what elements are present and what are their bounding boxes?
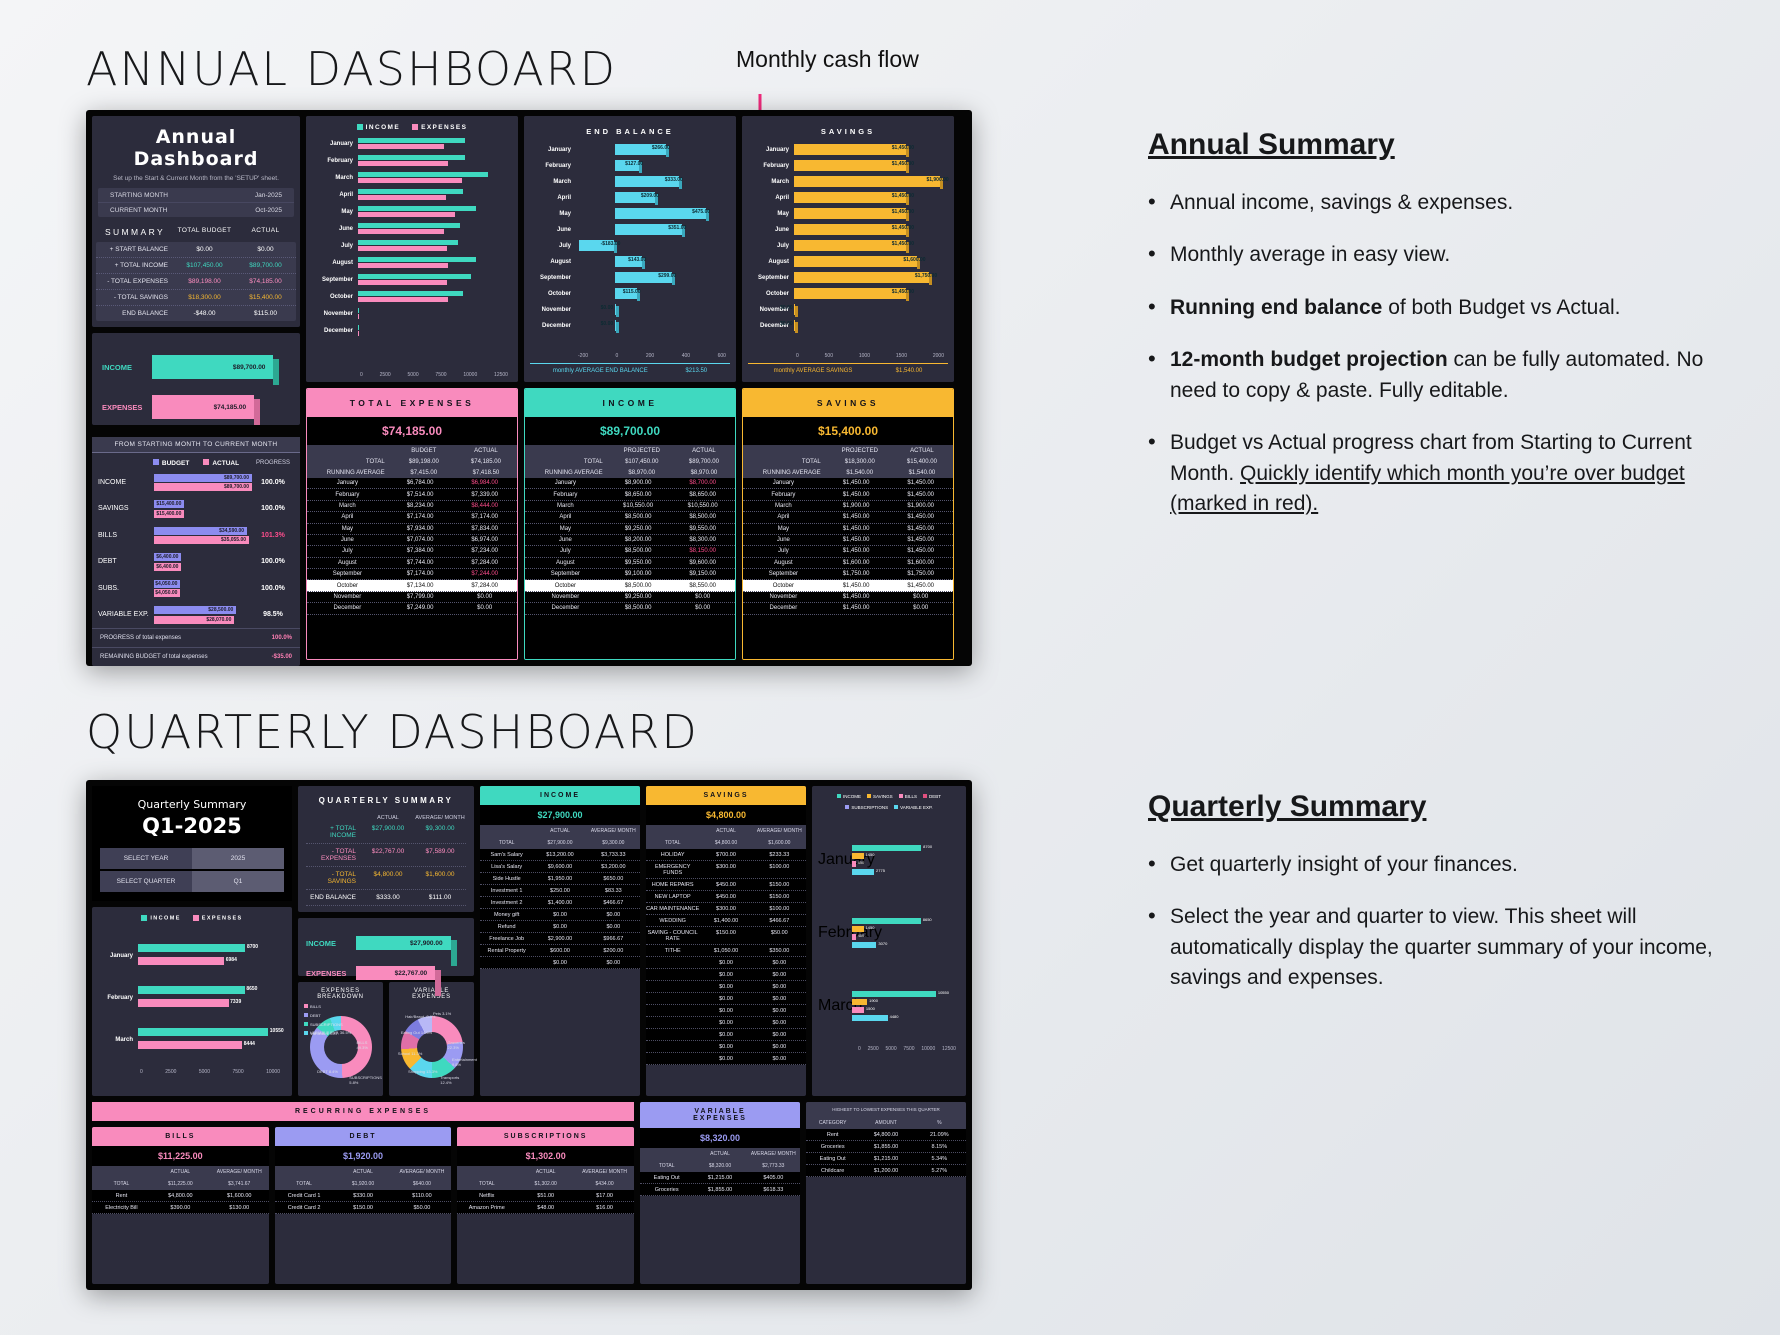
value-bar-label: $127.00 <box>625 161 643 167</box>
ie-bar: $74,185.00 <box>152 395 254 419</box>
ie-bar-row: INCOME $89,700.00 <box>102 355 290 379</box>
quarterly-bullet-list: Get quarterly insight of your finances.S… <box>1148 850 1728 994</box>
row-label: RUNNING AVERAGE <box>307 470 393 476</box>
table-row: May$9,250.00$9,550.00 <box>525 524 735 535</box>
donut-label: BILLS 49.3% <box>357 1040 377 1050</box>
variable-title: VARIABLE EXPENSES <box>395 988 468 1004</box>
expenses-bar <box>358 246 447 251</box>
chart-row: May $475.00 <box>530 206 730 222</box>
axis-tick: 12500 <box>494 372 508 378</box>
q-savings-body: HOLIDAY$700.00$233.33EMERGENCY FUNDS$300… <box>646 849 806 1065</box>
value-bar-label: $0.00 <box>780 305 793 311</box>
series-bar-value: 1450 <box>864 852 875 857</box>
table-row: Investment 2$1,400.00$466.67 <box>480 897 640 909</box>
chart-row-label: February <box>530 163 576 169</box>
table-row: January$1,450.00$1,450.00 <box>743 478 953 489</box>
series-bar: 1900 <box>852 999 867 1005</box>
expenses-bar <box>358 178 462 183</box>
table-row: HOME REPAIRS$450.00$150.00 <box>646 879 806 891</box>
axis-tick: 2500 <box>165 1069 176 1075</box>
value-bar <box>794 192 906 203</box>
bva-footer-value: -$35.00 <box>272 654 292 660</box>
series-bar: 2775 <box>852 869 874 875</box>
expenses-bar <box>358 331 359 336</box>
q-income-body: Sam's Salary$13,200.00$3,733.33Lisa's Sa… <box>480 849 640 969</box>
quarterly-bottom-row: RECURRING EXPENSES BILLS $11,225.00 ACTU… <box>92 1102 966 1284</box>
highest-header: HIGHEST TO LOWEST EXPENSES THIS QUARTER <box>806 1102 966 1117</box>
summary-title: SUMMARY <box>96 227 174 237</box>
chart-row: June $351.00 <box>530 222 730 238</box>
row-month: August <box>743 560 824 566</box>
value-bar-label: $209.00 <box>641 193 659 199</box>
table-row: Childcare$1,200.005.27% <box>806 1165 966 1177</box>
savings-footer: monthly AVERAGE SAVINGS $1,540.00 <box>748 363 948 378</box>
axis-tick: 400 <box>682 353 690 359</box>
chart-row: May $1,450.00 <box>748 206 948 222</box>
bullet-item: Running end balance of both Budget vs Ac… <box>1148 293 1728 323</box>
variable-donut: Groceries 22.3%Eating Out 14.5%Shopping … <box>395 1004 468 1090</box>
donut-label: Pets 3.1% <box>433 1011 451 1016</box>
table-row: November$9,250.00$0.00 <box>525 592 735 603</box>
summary-col-actual: ACTUAL <box>235 227 296 237</box>
row-month: June <box>525 537 606 543</box>
chart-group: January 8700 1450 450 2775 <box>818 824 960 897</box>
chart-row: October <box>312 288 512 305</box>
chart-row: September <box>312 271 512 288</box>
row-month: November <box>743 594 824 600</box>
bva-row: VARIABLE EXP. $28,500.00 $28,070.00 98.5… <box>92 602 300 629</box>
chart-row-label: January <box>748 147 794 153</box>
annual-header-panel: Annual Dashboard Set up the Start & Curr… <box>92 116 300 327</box>
savings-table: SAVINGS $15,400.00 PROJECTEDACTUAL TOTAL… <box>742 388 954 660</box>
table-row: August$1,600.00$1,600.00 <box>743 558 953 569</box>
col-projected: PROJECTED <box>611 448 673 454</box>
series-bar-value: 450 <box>856 860 865 865</box>
table-row: December$8,500.00$0.00 <box>525 603 735 614</box>
table-header: VARIABLE EXPENSES <box>640 1102 800 1128</box>
setup-value[interactable]: Oct-2025 <box>255 207 282 214</box>
row-month: October <box>307 583 388 589</box>
bva-actual-bar: $4,050.00 <box>154 589 180 597</box>
series-bar-value: 1900 <box>867 998 878 1003</box>
value-bar <box>794 320 795 331</box>
table-row: $0.00$0.00 <box>480 957 640 969</box>
qsummary-rows: + TOTAL INCOME$27,900.00$9,300.00- TOTAL… <box>306 821 466 906</box>
expenses-bar <box>358 280 447 285</box>
series-bar: 4480 <box>852 1015 888 1021</box>
chart-row: February 8650 7339 <box>100 977 284 1019</box>
chart-row-label: October <box>530 291 576 297</box>
chart-row-label: March <box>748 179 794 185</box>
setup-table: STARTING MONTHJan-2025 CURRENT MONTHOct-… <box>98 188 294 217</box>
chart-row: December $0.00 <box>748 318 948 334</box>
chart-row: September $299.00 <box>530 270 730 286</box>
row-month: September <box>307 571 388 577</box>
chart-row: November <box>312 305 512 322</box>
row-month: January <box>743 480 824 486</box>
recurring-tables: BILLS $11,225.00 ACTUALAVERAGE/ MONTH TO… <box>92 1127 634 1284</box>
bva-budget-bar: $15,400.00 <box>154 500 184 508</box>
income-total: $89,700.00 <box>525 417 735 445</box>
end-balance-footer: monthly AVERAGE END BALANCE $213.50 <box>530 363 730 378</box>
setup-value[interactable]: Jan-2025 <box>255 192 282 199</box>
end-balance-chart-panel: END BALANCE January $266.00February $127… <box>524 116 736 382</box>
value-bar <box>794 176 940 187</box>
bva-actual-bar: $15,400.00 <box>154 510 184 518</box>
bva-row: INCOME $89,700.00 $89,700.00 100.0% <box>92 469 300 496</box>
chart-row-label: May <box>748 211 794 217</box>
axis-tick: 0 <box>616 353 619 359</box>
income-bar <box>358 325 359 330</box>
savings-axis: 0500100015002000 <box>748 349 948 359</box>
legend-expenses: EXPENSES <box>421 124 467 131</box>
ie-bar: $22,767.00 <box>356 966 435 980</box>
income-bar-value: 8650 <box>246 986 257 992</box>
value-bar-label: $0.00 <box>780 321 793 327</box>
chart-row: August $1,600.00 <box>748 254 948 270</box>
bullet-item: Get quarterly insight of your finances. <box>1148 850 1728 880</box>
chart-row: July <box>312 237 512 254</box>
donut-hole <box>417 1032 447 1062</box>
bullet-item: Annual income, savings & expenses. <box>1148 188 1728 218</box>
table-row: November$7,799.00$0.00 <box>307 592 517 603</box>
chart-row-label: April <box>312 192 358 198</box>
legend-item: INCOME <box>837 794 861 799</box>
chart-row-label: August <box>530 259 576 265</box>
chart-row-label: December <box>530 323 576 329</box>
income-expenses-chart-panel: INCOME EXPENSES January February March A… <box>306 116 518 382</box>
highest-expenses-table: HIGHEST TO LOWEST EXPENSES THIS QUARTER … <box>806 1102 966 1284</box>
income-bar <box>358 189 463 194</box>
quarterly-column-breakdown: QUARTERLY SUMMARY ACTUAL AVERAGE/ MONTH … <box>298 786 474 1096</box>
chart-row-label: February <box>312 158 358 164</box>
annual-column-summary: Annual Dashboard Set up the Start & Curr… <box>92 116 300 660</box>
ie-chart-plot: January February March April May June <box>312 135 512 368</box>
row-month: November <box>307 594 388 600</box>
chart-row-label: May <box>530 211 576 217</box>
bva-budget-bar: $6,400.00 <box>154 553 181 561</box>
table-row: July$7,384.00$7,234.00 <box>307 546 517 557</box>
table-row: April$1,450.00$1,450.00 <box>743 512 953 523</box>
table-row: $0.00$0.00 <box>646 1041 806 1053</box>
chart-row: December $0.00 <box>530 318 730 334</box>
table-row: $0.00$0.00 <box>646 1053 806 1065</box>
table-total: $11,225.00 <box>92 1146 269 1166</box>
col-actual: ACTUAL <box>673 448 735 454</box>
q-income-table: INCOME $27,900.00 ACTUALAVERAGE/ MONTH T… <box>480 786 640 1096</box>
select-year-value[interactable]: 2025 <box>192 848 284 869</box>
table-row: October$7,134.00$7,284.00 <box>307 580 517 591</box>
quarterly-column-summary: Quarterly Summary Q1-2025 SELECT YEAR202… <box>92 786 292 1096</box>
axis-tick: 200 <box>646 353 654 359</box>
chart-row: August $143.00 <box>530 254 730 270</box>
row-month: June <box>307 537 388 543</box>
expenses-table-header: TOTAL EXPENSES <box>307 389 517 417</box>
chart-row-label: January <box>100 953 138 959</box>
series-bar: 1450 <box>852 926 864 932</box>
bva-actual-bar: $6,400.00 <box>154 563 181 571</box>
savings-table-header: SAVINGS <box>743 389 953 417</box>
table-row: October$1,450.00$1,450.00 <box>743 580 953 591</box>
chart-row: April $1,450.00 <box>748 190 948 206</box>
table-row: Credit Card 2$150.00$50.00 <box>275 1202 452 1214</box>
bva-footer-label: PROGRESS of total expenses <box>100 635 181 641</box>
chart-row: June $1,450.00 <box>748 222 948 238</box>
chart-row: March <box>312 169 512 186</box>
row-month: January <box>525 480 606 486</box>
income-bar <box>358 274 471 279</box>
chart-row-label: June <box>748 227 794 233</box>
table-row: $0.00$0.00 <box>646 1005 806 1017</box>
series-bar-value: 450 <box>856 933 865 938</box>
value-bar-label: $1,750.00 <box>915 273 937 279</box>
chart-row: October $1,450.00 <box>748 286 948 302</box>
bullet-item: 12-month budget projection can be fully … <box>1148 345 1728 406</box>
bva-row-name: INCOME <box>98 479 154 486</box>
bullet-item: Monthly average in easy view. <box>1148 240 1728 270</box>
series-bar-value: 8650 <box>921 917 932 922</box>
ie-bar-row: EXPENSES $22,767.00 <box>306 966 466 980</box>
chart-row-label: February <box>818 924 852 942</box>
chart-row-label: May <box>312 209 358 215</box>
series-bar: 450 <box>852 934 856 940</box>
ie-bar: $89,700.00 <box>152 355 273 379</box>
savings-total: $15,400.00 <box>743 417 953 445</box>
chart-row-label: July <box>530 243 576 249</box>
table-row: $0.00$0.00 <box>646 993 806 1005</box>
savings-chart-title: SAVINGS <box>748 124 948 142</box>
axis-tick: 2500 <box>868 1046 879 1052</box>
table-row: Amazon Prime$48.00$16.00 <box>457 1202 634 1214</box>
ie-chart-legend: INCOME EXPENSES <box>312 124 512 131</box>
donut-legend-item: BILLS <box>304 1004 321 1009</box>
row-month: March <box>307 503 388 509</box>
legend-budget: BUDGET <box>162 460 189 467</box>
series-bar-value: 1500 <box>864 1006 875 1011</box>
quarterly-ie-chart-panel: INCOME EXPENSES January 8700 6984 Februa… <box>92 907 292 1096</box>
chart-row-label: November <box>530 307 576 313</box>
chart-row: November $0.00 <box>530 302 730 318</box>
bva-footer-row: PROGRESS of total expenses100.0% <box>92 628 300 647</box>
table-row: February$7,514.00$7,339.00 <box>307 489 517 500</box>
table-row: May$7,934.00$7,834.00 <box>307 524 517 535</box>
end-balance-plot: January $266.00February $127.00March $33… <box>530 142 730 349</box>
bva-footers: PROGRESS of total expenses100.0%REMAININ… <box>92 628 300 666</box>
value-bar-label: $1,600.00 <box>903 257 925 263</box>
chart-row-label: September <box>748 275 794 281</box>
series-bar-value: 3070 <box>876 941 887 946</box>
recurring-expenses-group: RECURRING EXPENSES BILLS $11,225.00 ACTU… <box>92 1102 634 1284</box>
chart-row-label: March <box>818 997 852 1015</box>
donut-legend-item: DEBT <box>304 1013 321 1018</box>
value-bar <box>794 208 906 219</box>
chart-row: January $1,450.00 <box>748 142 948 158</box>
series-bar-value: 8700 <box>921 844 932 849</box>
table-row: June$7,074.00$6,974.00 <box>307 535 517 546</box>
chart-row: February $1,450.00 <box>748 158 948 174</box>
expenses-bar-value: 8444 <box>244 1041 255 1047</box>
row-month: March <box>525 503 606 509</box>
expenses-bar <box>138 1041 242 1049</box>
income-expense-3d-bars: INCOME $89,700.00 EXPENSES $74,185.00 <box>102 355 290 419</box>
row-month: February <box>307 492 388 498</box>
annual-dashboard-heading: ANNUAL DASHBOARD <box>86 42 617 96</box>
table-header: SUBSCRIPTIONS <box>457 1127 634 1146</box>
income-bar <box>358 308 359 313</box>
q-savings-total: $4,800.00 <box>646 805 806 825</box>
chart-row-label: March <box>530 179 576 185</box>
quarterly-dashboard-heading: QUARTERLY DASHBOARD <box>86 705 699 759</box>
chart-row: January <box>312 135 512 152</box>
income-bar <box>138 944 245 952</box>
expenses-bar <box>138 957 224 965</box>
bva-header: FROM STARTING MONTH TO CURRENT MONTH <box>92 437 300 453</box>
row-month: December <box>307 605 388 611</box>
chart-row-label: September <box>530 275 576 281</box>
q-income-expense-3d: INCOME $27,900.00 EXPENSES $22,767.00 <box>306 936 466 980</box>
variable-expenses-table: VARIABLE EXPENSES $8,320.00 ACTUALAVERAG… <box>640 1102 800 1284</box>
table-row: March$8,234.00$8,444.00 <box>307 501 517 512</box>
chart-group: February 8650 1450 450 3070 <box>818 897 960 970</box>
table-row: May$1,450.00$1,450.00 <box>743 524 953 535</box>
axis-tick: 5000 <box>199 1069 210 1075</box>
chart-row: January $266.00 <box>530 142 730 158</box>
table-row: April$7,174.00$7,174.00 <box>307 512 517 523</box>
quarterly-summary-title: Quarterly Summary <box>1148 790 1728 824</box>
expenses-bar <box>358 144 444 149</box>
series-bar-value: 4480 <box>888 1014 899 1019</box>
bva-row: SAVINGS $15,400.00 $15,400.00 100.0% <box>92 496 300 523</box>
quarterly-dashboard-board: Quarterly Summary Q1-2025 SELECT YEAR202… <box>86 780 972 1290</box>
table-row: Eating Out$1,215.00$405.00 <box>640 1172 800 1184</box>
bva-row-name: SAVINGS <box>98 505 154 512</box>
income-table: INCOME $89,700.00 PROJECTEDACTUAL TOTAL$… <box>524 388 736 660</box>
income-bar-value: 10550 <box>270 1028 284 1034</box>
summary-row: END BALANCE-$48.00$115.00 <box>96 306 296 321</box>
row-month: July <box>307 548 388 554</box>
table-row: $0.00$0.00 <box>646 1017 806 1029</box>
axis-tick: 2500 <box>380 372 391 378</box>
table-total: $1,302.00 <box>457 1146 634 1166</box>
expenses-breakdown-card: EXPENSES BREAKDOWN BILLS 49.3%VARIABLE E… <box>298 982 383 1096</box>
series-bar: 8700 <box>852 845 921 851</box>
bva-footer-row: REMAINING BUDGET of total expenses-$35.0… <box>92 647 300 666</box>
donut-label: School 11.3% <box>398 1051 422 1056</box>
bva-progress: 101.3% <box>252 532 294 539</box>
table-row: Money gift$0.00$0.00 <box>480 909 640 921</box>
expenses-bar <box>138 999 229 1007</box>
legend-item: BILLS <box>899 794 917 799</box>
quarterly-column-chart: INCOMESAVINGSBILLSDEBTSUBSCRIPTIONSVARIA… <box>812 786 966 1096</box>
table-row: Rent$4,800.0021.09% <box>806 1129 966 1141</box>
income-bar <box>138 986 245 994</box>
chart-row: February $127.00 <box>530 158 730 174</box>
donut-label: Shopping 13.3% <box>408 1069 437 1074</box>
donut-label: Hair/Beaut. 8.8% <box>405 1014 435 1019</box>
chart-row: June <box>312 220 512 237</box>
value-bar-label: $351.00 <box>668 225 686 231</box>
recurring-table: DEBT $1,920.00 ACTUALAVERAGE/ MONTH TOTA… <box>275 1127 452 1284</box>
annual-summary-title: Annual Summary <box>1148 128 1728 162</box>
axis-tick: 0 <box>796 353 799 359</box>
table-row: Rental Property$600.00$200.00 <box>480 945 640 957</box>
quarterly-column-savings: SAVINGS $4,800.00 ACTUALAVERAGE/ MONTH T… <box>646 786 806 1096</box>
value-bar-label: $475.00 <box>692 209 710 215</box>
legend-item: SAVINGS <box>867 794 893 799</box>
income-table-body: January$8,900.00$8,700.00February$8,650.… <box>525 478 735 659</box>
ie-bar: $27,900.00 <box>356 936 451 950</box>
value-bar-label: -$183.00 <box>601 241 621 247</box>
chart-row-label: August <box>748 259 794 265</box>
chart-row-label: October <box>748 291 794 297</box>
bva-progress: 100.0% <box>252 558 294 565</box>
q-ie-plot: January 8700 6984 February 8650 7339 Mar… <box>100 935 284 1065</box>
value-bar-label: $266.00 <box>652 145 670 151</box>
row-month: February <box>525 492 606 498</box>
series-bar: 450 <box>852 861 856 867</box>
value-bar-label: $333.00 <box>665 177 683 183</box>
end-balance-axis: -2000200400600 <box>530 349 730 359</box>
chart-row-label: September <box>312 277 358 283</box>
legend-item: SUBSCRIPTIONS <box>845 805 888 810</box>
bva-progress: 100.0% <box>252 479 294 486</box>
axis-tick: 10000 <box>463 372 477 378</box>
select-quarter-value[interactable]: Q1 <box>192 871 284 892</box>
row-month: July <box>743 548 824 554</box>
value-bar-label: $1,450.00 <box>892 209 914 215</box>
value-bar <box>794 144 906 155</box>
table-row: February$8,650.00$8,650.00 <box>525 489 735 500</box>
table-row: July$8,500.00$8,150.00 <box>525 546 735 557</box>
table-row: December$1,450.00$0.00 <box>743 603 953 614</box>
table-row: Netflix$51.00$17.00 <box>457 1190 634 1202</box>
bva-progress: 98.5% <box>252 611 294 618</box>
expenses-bar <box>358 297 448 302</box>
bva-budget-bar: $4,050.00 <box>154 580 180 588</box>
chart-row: March $1,900.00 <box>748 174 948 190</box>
axis-tick: 7500 <box>903 1046 914 1052</box>
annual-column-savings: SAVINGS January $1,450.00February $1,450… <box>742 116 954 660</box>
table-row: Electricity Bill$390.00$130.00 <box>92 1202 269 1214</box>
row-month: May <box>525 526 606 532</box>
chart-row: September $1,750.00 <box>748 270 948 286</box>
table-row: CAR MAINTENANCE$300.00$100.00 <box>646 903 806 915</box>
bva-budget-bar: $89,700.00 <box>154 474 252 482</box>
setup-row: CURRENT MONTHOct-2025 <box>98 202 294 217</box>
qsummary-row: - TOTAL EXPENSES$22,767.00$7,589.00 <box>306 844 466 867</box>
donut-label: SUBSCRIPTIONS 5.8% <box>349 1075 382 1085</box>
table-row: December$7,249.00$0.00 <box>307 603 517 614</box>
annual-title: Annual Dashboard <box>92 116 300 170</box>
series-bar: 10550 <box>852 991 936 997</box>
bva-budget-bar: $34,590.00 <box>154 527 247 535</box>
row-month: May <box>743 526 824 532</box>
value-bar <box>794 256 917 267</box>
expenses-bar <box>358 229 444 234</box>
axis-tick: 1000 <box>859 353 870 359</box>
table-row: Credit Card 1$330.00$110.00 <box>275 1190 452 1202</box>
expenses-bar <box>358 212 455 217</box>
value-bar <box>794 304 795 315</box>
table-row: February$1,450.00$1,450.00 <box>743 489 953 500</box>
chart-row-label: April <box>748 195 794 201</box>
q-ie-legend: INCOME EXPENSES <box>100 915 284 921</box>
value-bar <box>794 160 906 171</box>
axis-tick: 0 <box>360 372 363 378</box>
income-bar <box>358 240 458 245</box>
axis-tick: 12500 <box>942 1046 956 1052</box>
setup-label: STARTING MONTH <box>110 192 168 199</box>
